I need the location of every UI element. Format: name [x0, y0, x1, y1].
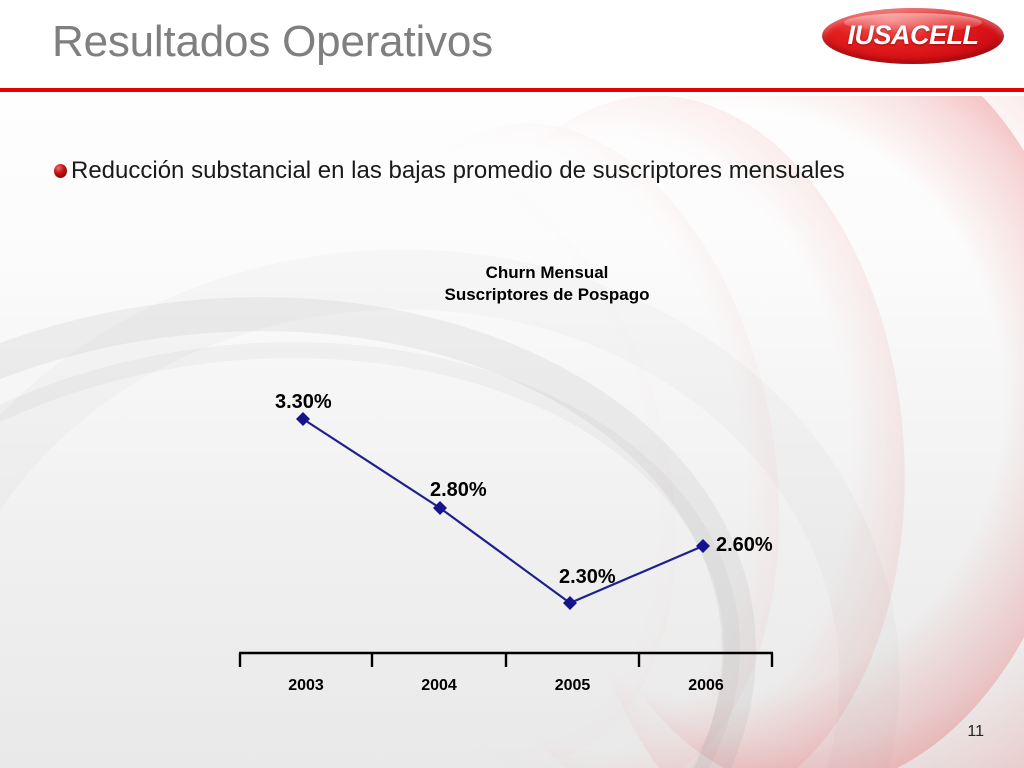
slide-header: Resultados Operativos IUSACELL [0, 0, 1024, 95]
chart-plot-area [0, 0, 1024, 768]
header-divider [0, 88, 1024, 92]
series-line [303, 419, 703, 603]
data-label-2004: 2.80% [430, 479, 487, 502]
x-axis-label-2004: 2004 [372, 677, 506, 695]
logo-wordmark: IUSACELL [822, 8, 1004, 64]
data-label-2005: 2.30% [559, 566, 616, 589]
bullet-item-label: Reducción substancial en las bajas prome… [71, 157, 845, 185]
bullet-sphere-icon [54, 164, 67, 178]
slide: Resultados Operativos IUSACELL Reducción… [0, 0, 1024, 768]
page-number: 11 [967, 723, 984, 741]
x-axis-label-2005: 2005 [506, 677, 639, 695]
data-point-marker-2003 [296, 412, 310, 426]
data-label-2003: 3.30% [275, 391, 332, 414]
page-title: Resultados Operativos [52, 17, 493, 67]
churn-line-chart: Churn Mensual Suscriptores de Pospago 3.… [0, 0, 1024, 768]
data-label-2006: 2.60% [716, 534, 773, 557]
bullet-item: Reducción substancial en las bajas prome… [54, 157, 845, 185]
x-axis-label-2006: 2006 [639, 677, 773, 695]
iusacell-logo: IUSACELL [822, 8, 1004, 64]
data-point-marker-2006 [696, 539, 710, 553]
x-axis-label-2003: 2003 [239, 677, 373, 695]
